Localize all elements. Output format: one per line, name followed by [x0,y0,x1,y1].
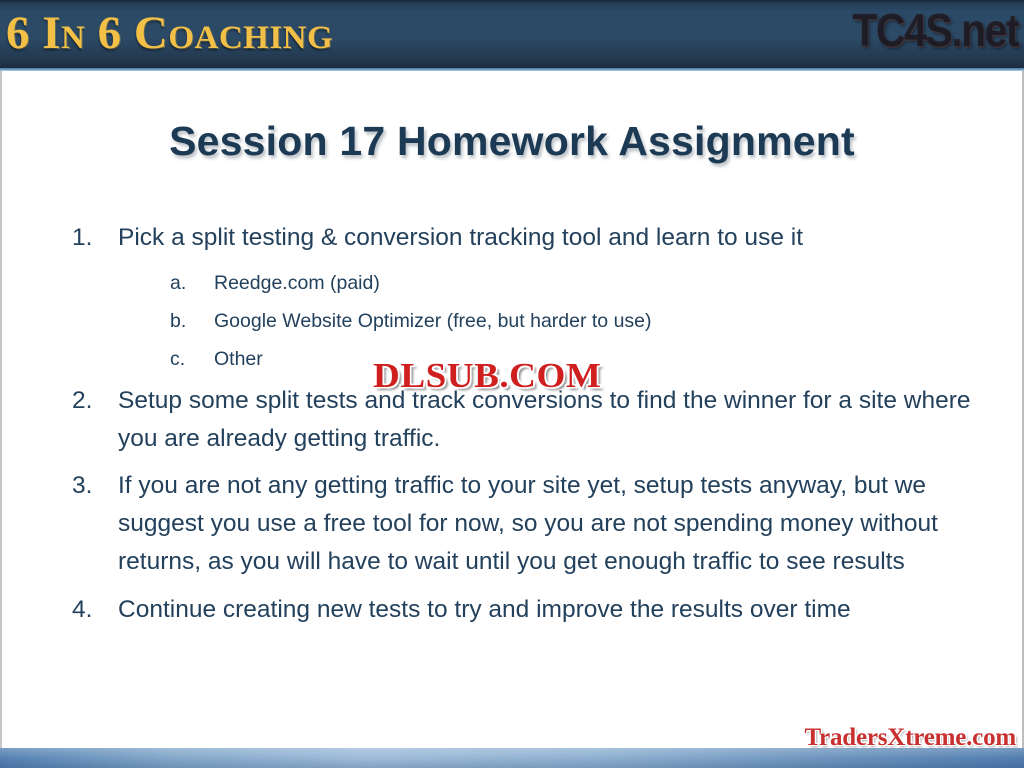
list-item-text: Continue creating new tests to try and i… [118,591,978,629]
list-item: 4. Continue creating new tests to try an… [72,591,978,629]
list-item-text: If you are not any getting traffic to yo… [118,467,978,581]
homework-list: 1. Pick a split testing & conversion tra… [72,219,978,633]
sub-list-item-text: Reedge.com (paid) [214,264,978,302]
tc4s-logo: TC4S.net [852,0,1018,63]
list-item-text: Setup some split tests and track convers… [118,382,978,458]
sub-list-item-text: Google Website Optimizer (free, but hard… [214,302,978,340]
sub-list-item-marker: b. [170,302,214,340]
sub-list-item: a. Reedge.com (paid) [72,264,978,302]
sub-list-item-text: Other [214,340,978,378]
page-title: Session 17 Homework Assignment [0,118,1024,165]
sub-list-item-marker: a. [170,264,214,302]
list-item-text: Pick a split testing & conversion tracki… [118,219,978,257]
list-item-marker: 3. [72,467,118,505]
list-item-marker: 2. [72,382,118,420]
list-item: 3. If you are not any getting traffic to… [72,467,978,581]
sub-list-item: c. Other [72,340,978,378]
brand-title: 6 In 6 Coaching [6,4,333,62]
slide-header: 6 In 6 Coaching TC4S.net [0,0,1024,68]
sub-list-item-marker: c. [170,340,214,378]
frame-border-left [0,71,2,768]
list-item-marker: 1. [72,219,118,257]
sub-list: a. Reedge.com (paid) b. Google Website O… [72,264,978,378]
header-accent-rule [0,68,1024,71]
list-item: 2. Setup some split tests and track conv… [72,382,978,458]
slide-canvas: 6 In 6 Coaching TC4S.net Session 17 Home… [0,0,1024,768]
sub-list-item: b. Google Website Optimizer (free, but h… [72,302,978,340]
list-item: 1. Pick a split testing & conversion tra… [72,219,978,257]
tradersxtreme-logo: TradersXtreme.com [804,722,1016,754]
list-item-marker: 4. [72,591,118,629]
